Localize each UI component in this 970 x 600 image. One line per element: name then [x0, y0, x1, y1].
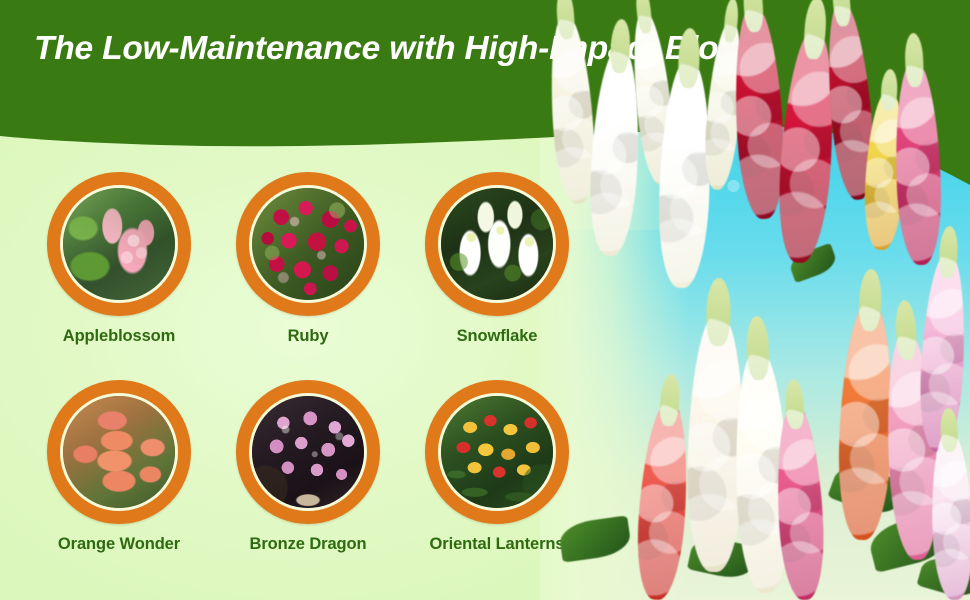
variety-label: Snowflake: [402, 327, 592, 346]
variety-card[interactable]: Ruby: [213, 172, 403, 346]
pink-snapdragon-thumbnail: [63, 188, 175, 300]
banner-graphic: The Low-Maintenance with High-Impact Blo…: [0, 0, 970, 600]
orange-snapdragon-thumbnail: [63, 396, 175, 508]
variety-card[interactable]: Snowflake: [402, 172, 592, 346]
thumbnail-ring: [47, 172, 191, 316]
pink-bronze-snapdragon-thumbnail: [252, 396, 364, 508]
thumbnail-ring: [425, 172, 569, 316]
crimson-snapdragon-thumbnail: [252, 188, 364, 300]
flower-photo: [63, 188, 175, 300]
variety-row: Orange WonderBronze DragonOriental Lante…: [0, 380, 600, 588]
variety-label: Orange Wonder: [24, 535, 214, 554]
variety-card[interactable]: Oriental Lanterns: [402, 380, 592, 554]
thumbnail-ring: [236, 172, 380, 316]
flower-photo: [63, 396, 175, 508]
flower-photo: [441, 188, 553, 300]
variety-grid: AppleblossomRubySnowflakeOrange WonderBr…: [0, 172, 600, 588]
variety-card[interactable]: Orange Wonder: [24, 380, 214, 554]
variety-label: Appleblossom: [24, 327, 214, 346]
snapdragon-garden-photo: [540, 0, 970, 600]
flower-photo: [252, 396, 364, 508]
thumbnail-ring: [47, 380, 191, 524]
variety-label: Ruby: [213, 327, 403, 346]
variety-card[interactable]: Bronze Dragon: [213, 380, 403, 554]
white-snapdragon-thumbnail: [441, 188, 553, 300]
red-yellow-snapdragon-thumbnail: [441, 396, 553, 508]
thumbnail-ring: [236, 380, 380, 524]
variety-label: Bronze Dragon: [213, 535, 403, 554]
flower-photo: [441, 396, 553, 508]
flower-photo: [252, 188, 364, 300]
thumbnail-ring: [425, 380, 569, 524]
variety-card[interactable]: Appleblossom: [24, 172, 214, 346]
variety-row: AppleblossomRubySnowflake: [0, 172, 600, 380]
